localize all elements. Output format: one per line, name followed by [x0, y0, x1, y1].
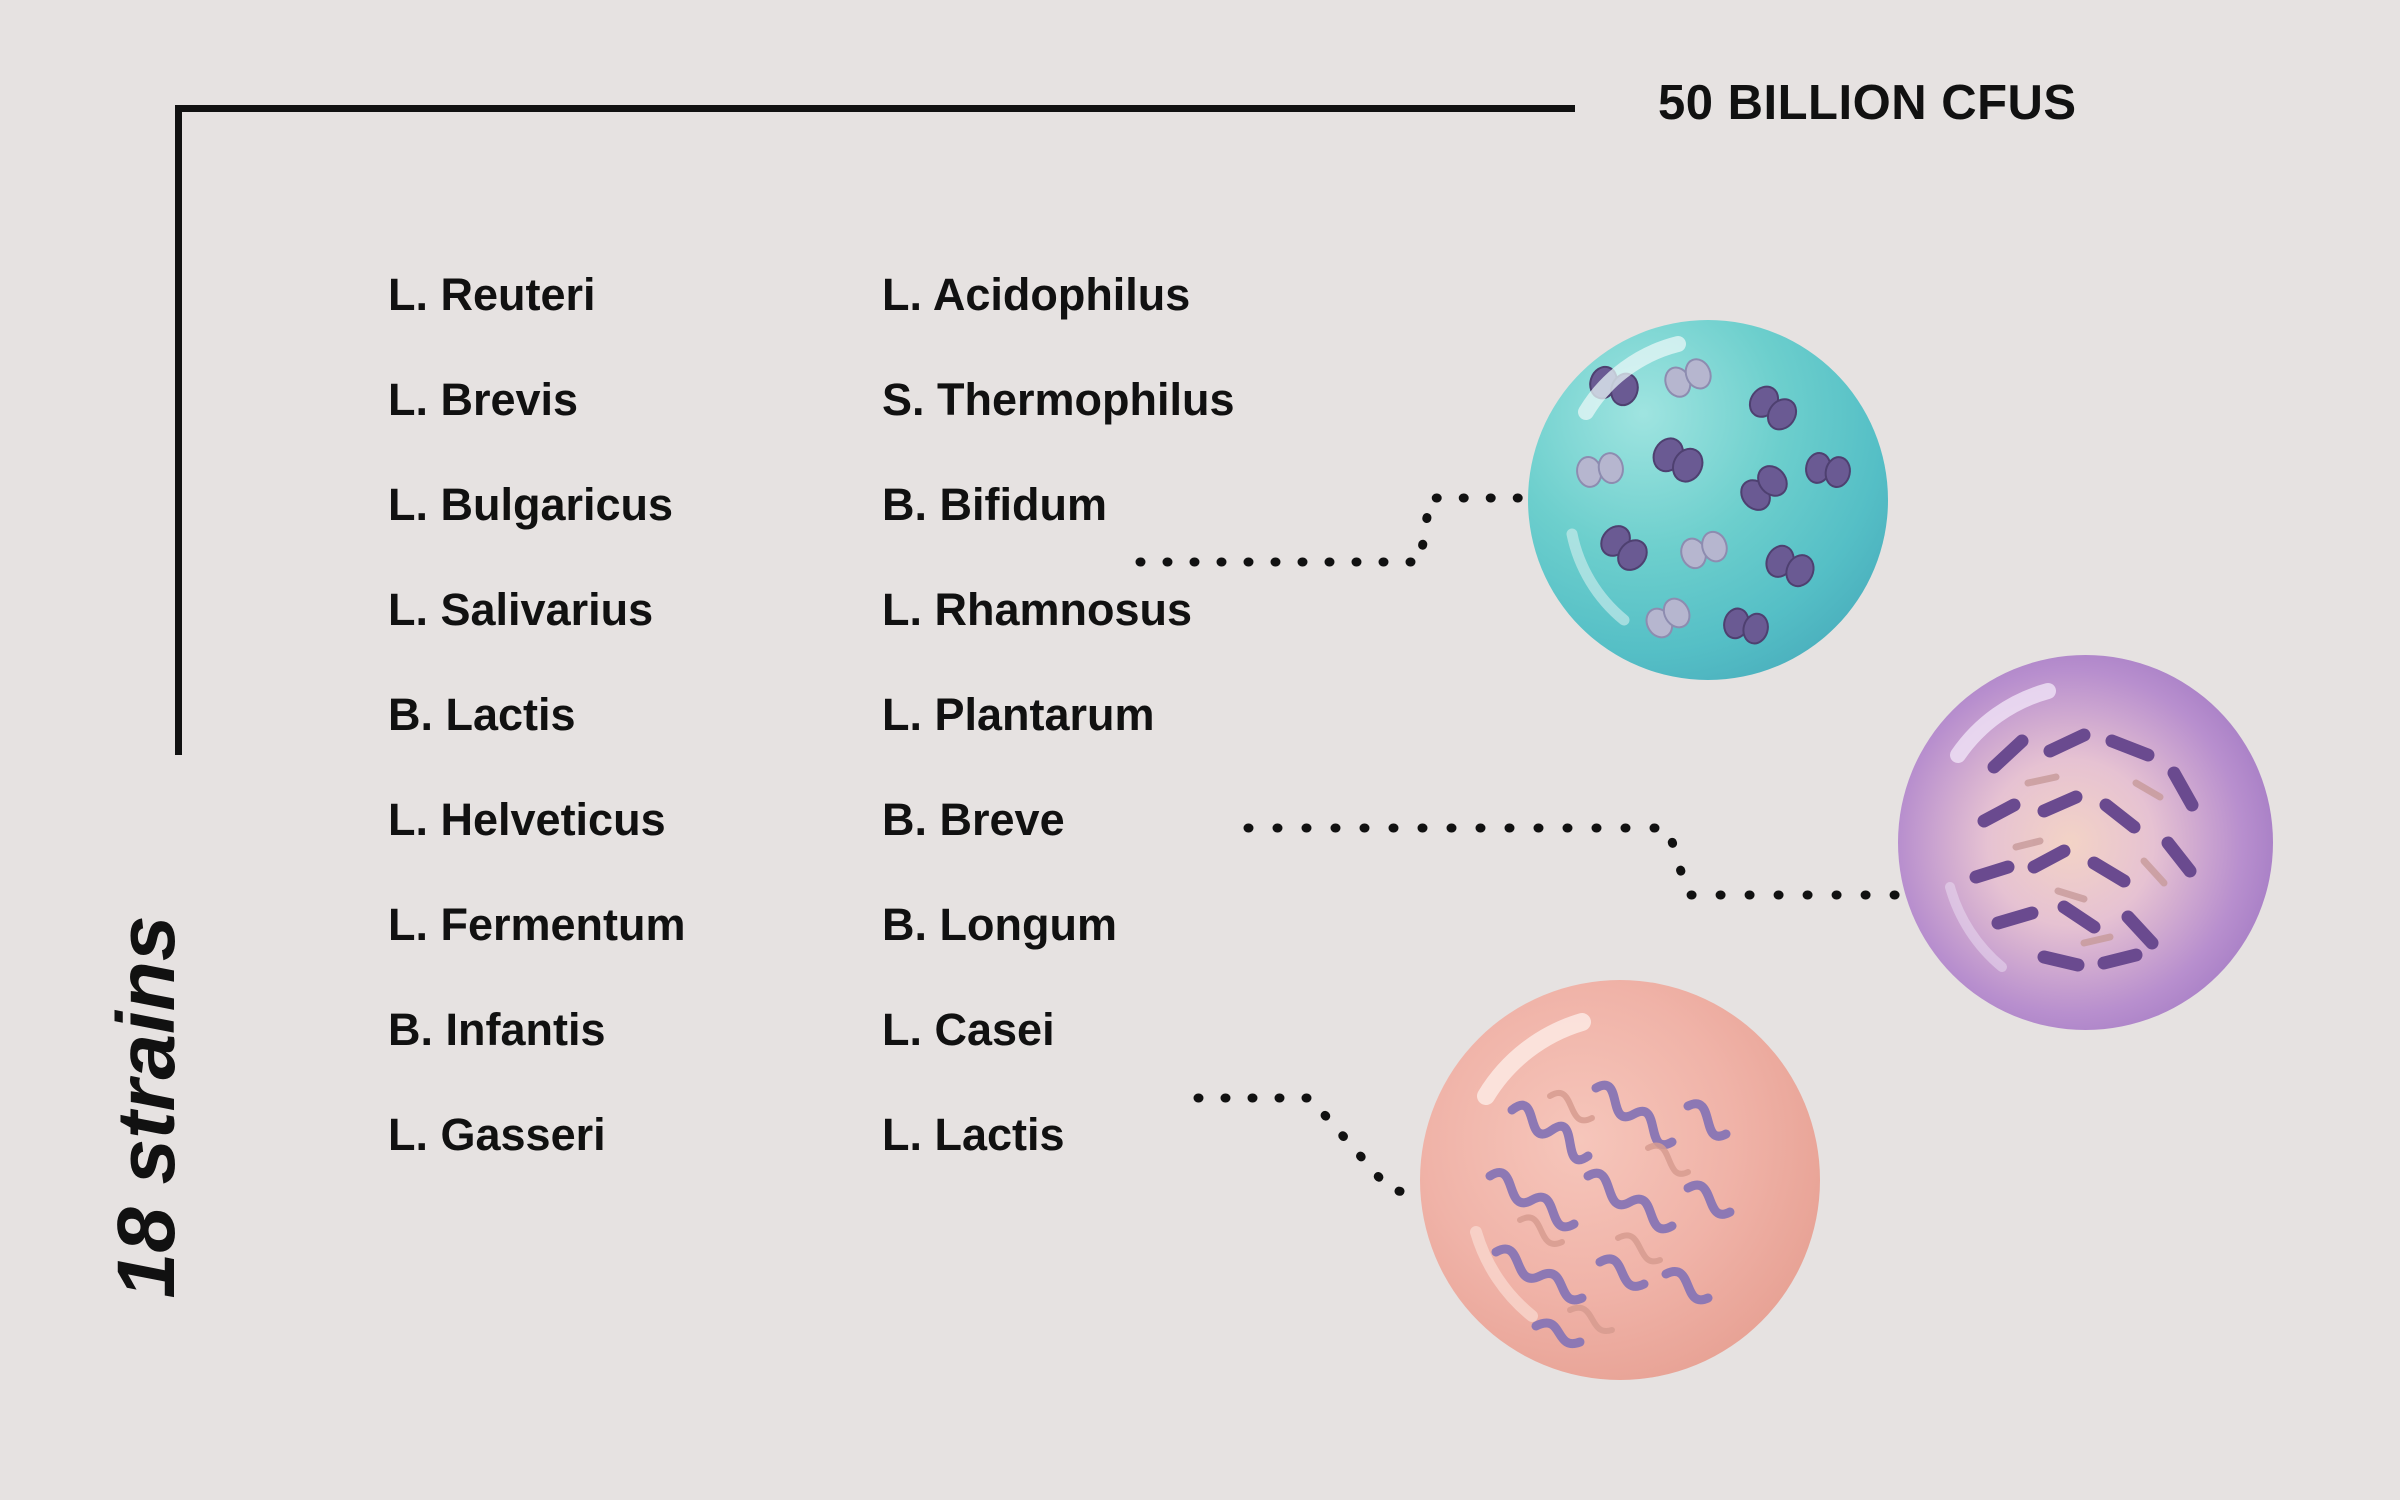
microbe-circle-longum [1420, 980, 1820, 1380]
strain-item: L. Salivarius [388, 580, 686, 685]
strain-item: B. Bifidum [882, 475, 1235, 580]
microbe-circle-plantarum [1898, 655, 2273, 1030]
strain-item: L. Acidophilus [882, 265, 1235, 370]
strain-item: L. Plantarum [882, 685, 1235, 790]
strain-item: B. Infantis [388, 1000, 686, 1105]
cfu-label: 50 BILLION CFUS [1658, 75, 2077, 131]
strain-column-right: L. Acidophilus S. Thermophilus B. Bifidu… [882, 265, 1235, 1210]
diagram-canvas: 50 BILLION CFUS 18 strains L. Reuteri L.… [0, 0, 2400, 1500]
side-title: 18 strains [100, 827, 194, 1387]
long-filaments-icon [1420, 980, 1820, 1380]
strain-item: L. Lactis [882, 1105, 1235, 1210]
strain-item: L. Brevis [388, 370, 686, 475]
strain-item: S. Thermophilus [882, 370, 1235, 475]
strain-item: L. Bulgaricus [388, 475, 686, 580]
strain-item: L. Fermentum [388, 895, 686, 1000]
microbe-circle-bifidum [1528, 320, 1888, 680]
strain-column-left: L. Reuteri L. Brevis L. Bulgaricus L. Sa… [388, 265, 686, 1210]
coccus-pairs-icon [1528, 320, 1888, 680]
bracket-rule [175, 105, 1575, 755]
strain-item: B. Longum [882, 895, 1235, 1000]
strain-item: B. Breve [882, 790, 1235, 895]
strain-item: L. Reuteri [388, 265, 686, 370]
connector-plantarum [1238, 800, 1918, 920]
strain-item: L. Rhamnosus [882, 580, 1235, 685]
strain-item: B. Lactis [388, 685, 686, 790]
strain-item: L. Gasseri [388, 1105, 686, 1210]
strain-item: L. Helveticus [388, 790, 686, 895]
short-rods-icon [1898, 655, 2273, 1030]
strain-item: L. Casei [882, 1000, 1235, 1105]
